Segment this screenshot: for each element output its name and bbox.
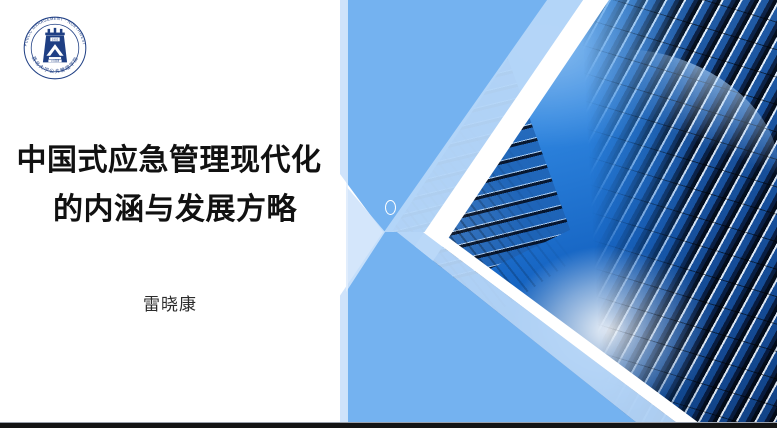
slide-title: 中国式应急管理现代化 的内涵与发展方略: [0, 136, 340, 234]
university-logo-svg: SCHOOL OF PUBLIC MANAGEMENT · NORTHWEST …: [16, 9, 94, 87]
logo-gate-mark: 1902 公共管理: [43, 28, 67, 63]
university-logo: SCHOOL OF PUBLIC MANAGEMENT · NORTHWEST …: [16, 9, 94, 87]
slide-title-line-2: 的内涵与发展方略: [10, 185, 340, 234]
slide-author-name: 雷晓康: [0, 290, 340, 315]
slide-title-line-1: 中国式应急管理现代化: [0, 136, 340, 185]
bottom-bar: [0, 423, 777, 428]
presentation-title-slide: SCHOOL OF PUBLIC MANAGEMENT · NORTHWEST …: [0, 0, 777, 428]
logo-year-text: 1902: [52, 38, 59, 42]
title-slide-artwork-panel: [337, 0, 777, 423]
skyscraper-photograph: [337, 0, 777, 423]
white-oval-ring-marker: [385, 200, 396, 215]
title-text-panel: SCHOOL OF PUBLIC MANAGEMENT · NORTHWEST …: [0, 0, 340, 428]
